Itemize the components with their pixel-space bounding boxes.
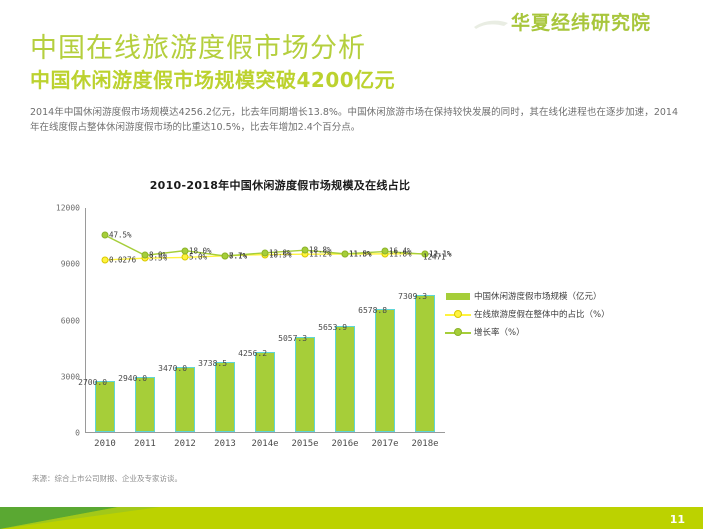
x-tick-label: 2017e <box>371 439 398 449</box>
legend-marker-icon <box>445 327 471 338</box>
growth-rate-point <box>262 249 269 256</box>
x-tick-label: 2011 <box>134 439 156 449</box>
growth-rate-point <box>182 247 189 254</box>
legend-marker-icon <box>445 309 471 320</box>
growth-rate-label: 13.8% <box>269 248 292 257</box>
legend-label: 中国休闲游度假市场规模（亿元） <box>474 291 645 303</box>
growth-rate-label: 18.0% <box>189 246 212 255</box>
growth-rate-point <box>102 232 109 239</box>
growth-rate-point <box>222 252 229 259</box>
growth-rate-label: 7.7% <box>229 251 247 260</box>
x-tick-label: 2018e <box>411 439 438 449</box>
growth-rate-point <box>142 252 149 259</box>
online-share-point <box>182 254 189 261</box>
x-tick-label: 2014e <box>251 439 278 449</box>
source-note: 来源：综合上市公司财报、企业及专家访谈。 <box>32 473 182 484</box>
growth-rate-point <box>302 247 309 254</box>
footer-band: 11 <box>0 507 703 529</box>
legend-label: 在线旅游度假在整体中的占比（%） <box>474 309 645 321</box>
y-tick-label: 6000 <box>61 316 80 325</box>
x-tick-label: 2016e <box>331 439 358 449</box>
growth-rate-label: 11.8% <box>349 249 372 258</box>
logo-swoosh-icon <box>474 18 508 32</box>
chart-extra-annotation: 12471 <box>423 253 446 262</box>
x-tick-label: 2013 <box>214 439 236 449</box>
growth-rate-label: 16.4% <box>389 247 412 256</box>
y-tick-label: 12000 <box>56 204 80 213</box>
brand-logo: 华夏经纬研究院 <box>511 8 651 35</box>
growth-rate-point <box>382 248 389 255</box>
page-subtitle: 中国休闲游度假市场规模突破4200亿元 <box>30 64 395 93</box>
y-tick-label: 3000 <box>61 372 80 381</box>
chart-legend: 中国休闲游度假市场规模（亿元）在线旅游度假在整体中的占比（%）增长率（%） <box>445 291 645 345</box>
legend-label: 增长率（%） <box>474 327 645 339</box>
growth-rate-label: 18.8% <box>309 246 332 255</box>
online-share-label: 0.0276 <box>109 255 136 264</box>
growth-rate-point <box>342 250 349 257</box>
y-tick-label: 9000 <box>61 260 80 269</box>
page-number: 11 <box>670 513 685 526</box>
legend-marker-icon <box>445 291 471 302</box>
line-series <box>85 208 445 433</box>
x-tick-label: 2012 <box>174 439 196 449</box>
legend-item: 增长率（%） <box>445 327 645 339</box>
legend-item: 中国休闲游度假市场规模（亿元） <box>445 291 645 303</box>
page-title: 中国在线旅游度假市场分析 <box>30 26 366 65</box>
x-tick-label: 2010 <box>94 439 116 449</box>
online-share-point <box>102 256 109 263</box>
chart-plot-area: 030006000900012000 2700.02940.03470.0373… <box>85 208 445 433</box>
chart-panel: 2010-2018年中国休闲游度假市场规模及在线占比 0300060009000… <box>30 165 678 465</box>
growth-rate-label: 8.9% <box>149 251 167 260</box>
y-tick-label: 0 <box>75 429 80 438</box>
growth-rate-label: 47.5% <box>109 231 132 240</box>
legend-item: 在线旅游度假在整体中的占比（%） <box>445 309 645 321</box>
x-tick-label: 2015e <box>291 439 318 449</box>
intro-paragraph: 2014年中国休闲游度假市场规模达4256.2亿元，比去年同期增长13.8%。中… <box>30 105 678 135</box>
chart-title: 2010-2018年中国休闲游度假市场规模及在线占比 <box>30 177 530 193</box>
